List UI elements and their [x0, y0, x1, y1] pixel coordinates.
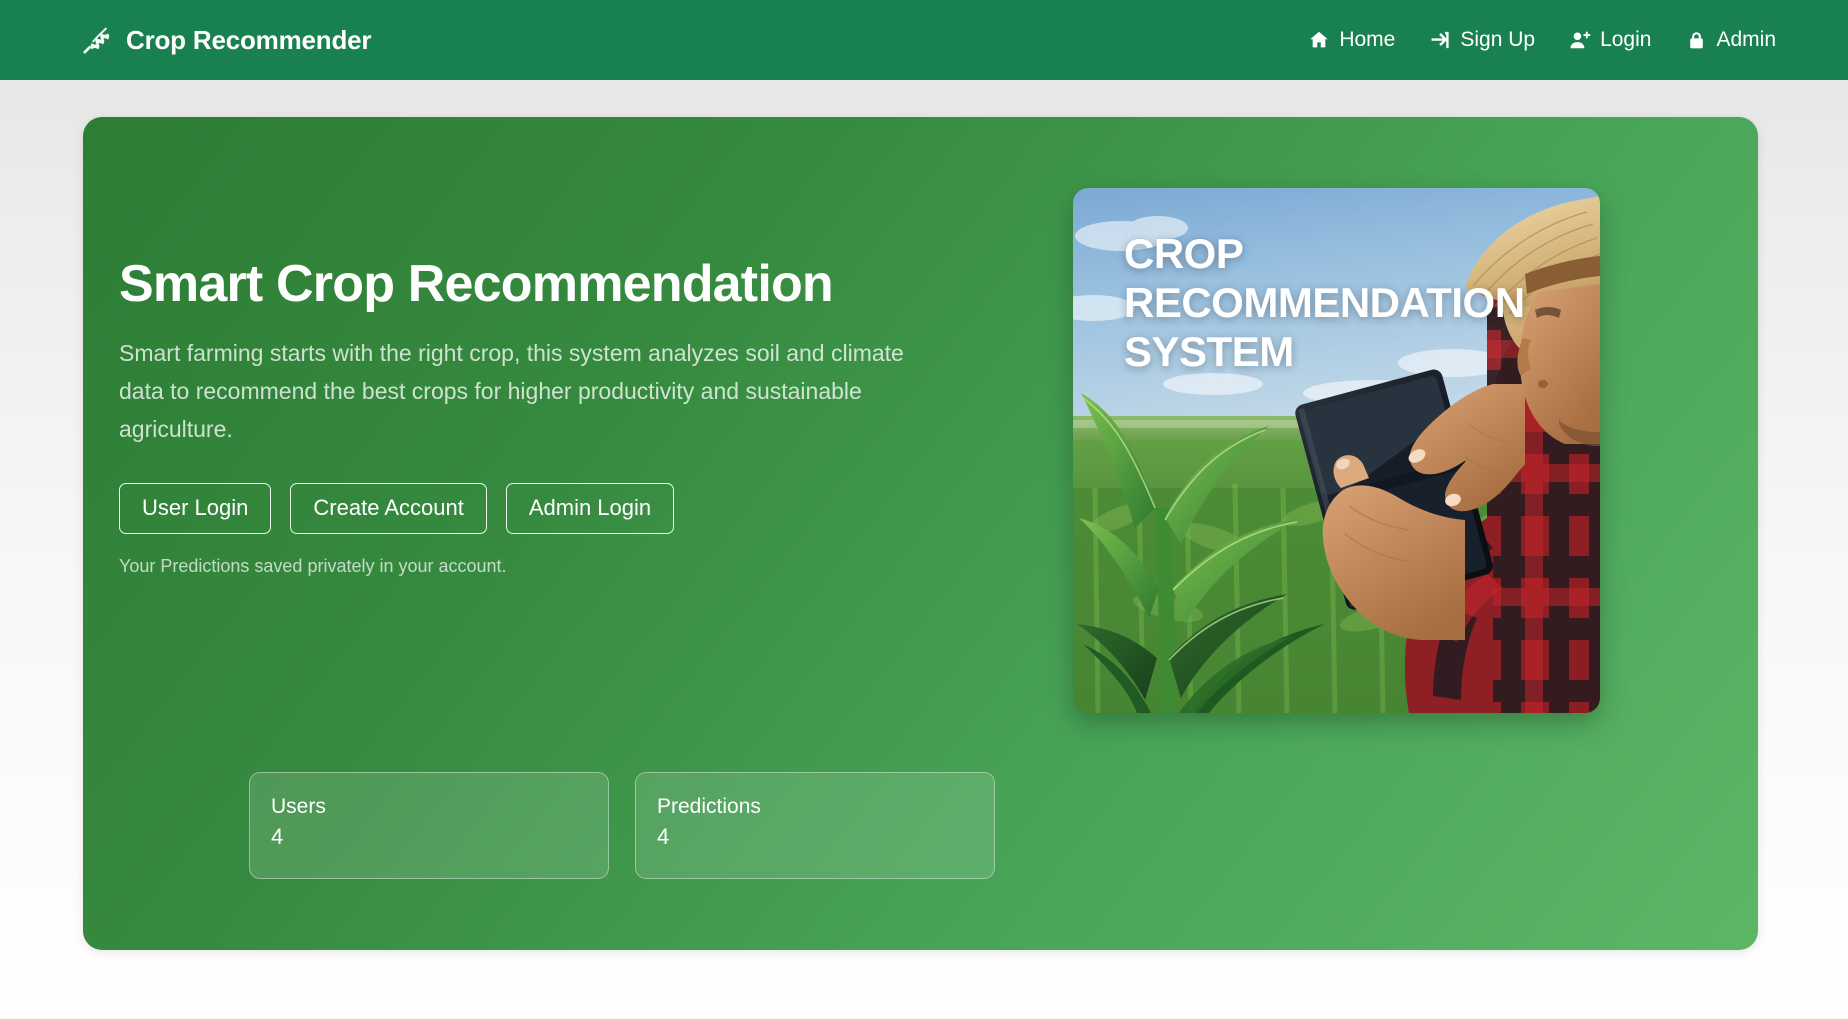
page-title: Smart Crop Recommendation: [119, 255, 1055, 313]
navbar: Crop Recommender Home Sign Up: [0, 0, 1848, 80]
lock-icon: [1685, 29, 1707, 51]
nav-item-home-label: Home: [1339, 28, 1395, 52]
overlay-line-3: SYSTEM: [1124, 327, 1525, 376]
stat-card-predictions-label: Predictions: [657, 794, 994, 820]
nav-links: Home Sign Up Login: [1308, 28, 1776, 52]
user-plus-icon: [1569, 29, 1591, 51]
nav-item-admin[interactable]: Admin: [1685, 28, 1776, 52]
nav-item-sign-up-label: Sign Up: [1460, 28, 1535, 52]
overlay-line-2: RECOMMENDATION: [1124, 278, 1525, 327]
stat-card-users: Users 4: [249, 772, 609, 879]
create-account-button[interactable]: Create Account: [290, 483, 486, 534]
stat-card-predictions-value: 4: [657, 823, 994, 852]
hero-content: Smart Crop Recommendation Smart farming …: [83, 117, 1055, 577]
overlay-line-1: CROP: [1124, 229, 1525, 278]
cta-button-row: User Login Create Account Admin Login: [119, 483, 1055, 534]
stat-card-users-label: Users: [271, 794, 608, 820]
hero-image-overlay-text: CROP RECOMMENDATION SYSTEM: [1124, 229, 1525, 376]
privacy-note: Your Predictions saved privately in your…: [119, 556, 1055, 577]
hero-section: Smart Crop Recommendation Smart farming …: [83, 117, 1758, 950]
stat-card-row: Users 4 Predictions 4: [249, 772, 995, 879]
sign-in-arrow-icon: [1429, 29, 1451, 51]
home-icon: [1308, 29, 1330, 51]
nav-item-home[interactable]: Home: [1308, 28, 1395, 52]
admin-login-button[interactable]: Admin Login: [506, 483, 674, 534]
nav-item-login-label: Login: [1600, 28, 1651, 52]
brand-title: Crop Recommender: [126, 25, 371, 56]
stat-card-predictions: Predictions 4: [635, 772, 995, 879]
page-body: Smart Crop Recommendation Smart farming …: [0, 80, 1848, 950]
wheat-icon: [78, 23, 112, 57]
nav-item-login[interactable]: Login: [1569, 28, 1651, 52]
hero-subtitle: Smart farming starts with the right crop…: [119, 335, 919, 449]
nav-item-sign-up[interactable]: Sign Up: [1429, 28, 1535, 52]
nav-item-admin-label: Admin: [1716, 28, 1776, 52]
user-login-button[interactable]: User Login: [119, 483, 271, 534]
stat-card-users-value: 4: [271, 823, 608, 852]
brand-link[interactable]: Crop Recommender: [78, 23, 371, 57]
hero-image: CROP RECOMMENDATION SYSTEM: [1073, 188, 1600, 713]
